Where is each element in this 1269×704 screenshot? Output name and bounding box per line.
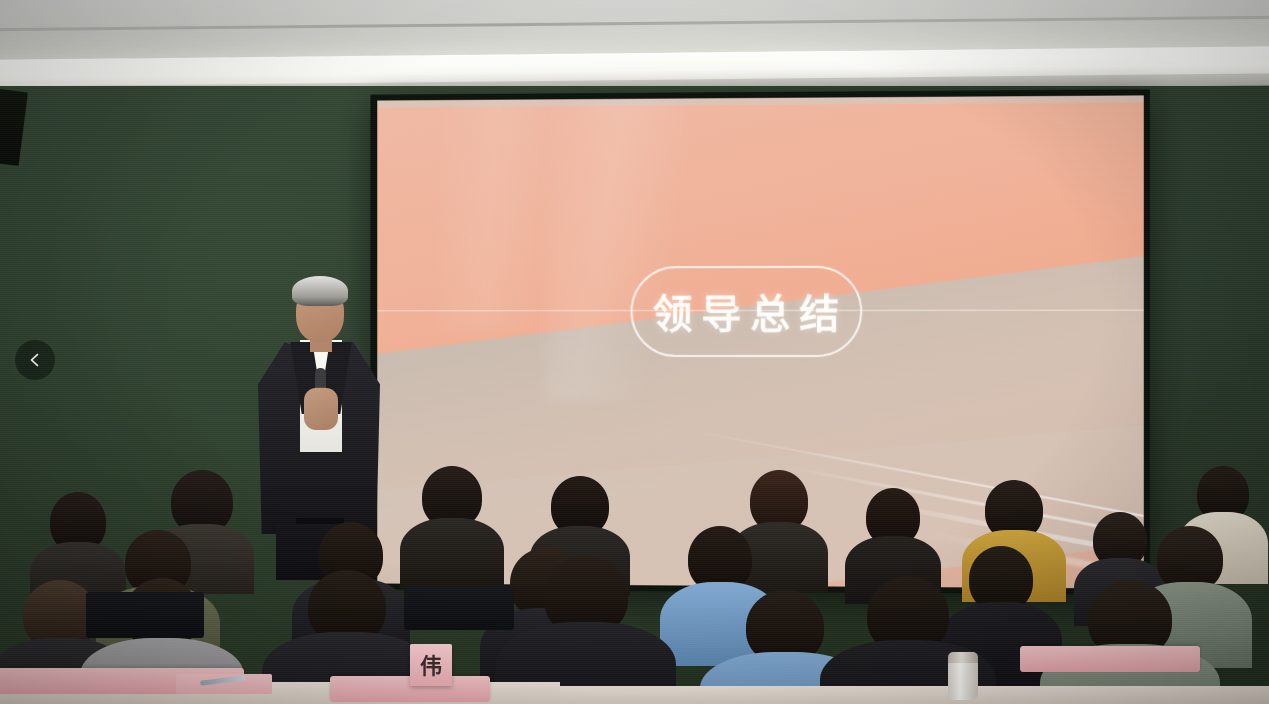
presenter-hands (304, 388, 338, 430)
chevron-left-icon (27, 352, 43, 368)
placard-holder (1020, 646, 1200, 672)
audience: 伟 (0, 430, 1269, 704)
slide-sheen-2 (437, 99, 543, 332)
photo-viewer: 领导总结 (0, 0, 1269, 704)
prev-image-button[interactable] (15, 340, 55, 380)
presenter-hair (292, 276, 348, 306)
laptop (86, 592, 204, 638)
thermos-cap (948, 652, 978, 663)
slide-title-pill: 领导总结 (630, 266, 861, 357)
name-placard: 伟 (410, 644, 452, 686)
slide-title: 领导总结 (644, 282, 849, 340)
laptop (404, 586, 514, 630)
front-desk (560, 686, 1269, 704)
